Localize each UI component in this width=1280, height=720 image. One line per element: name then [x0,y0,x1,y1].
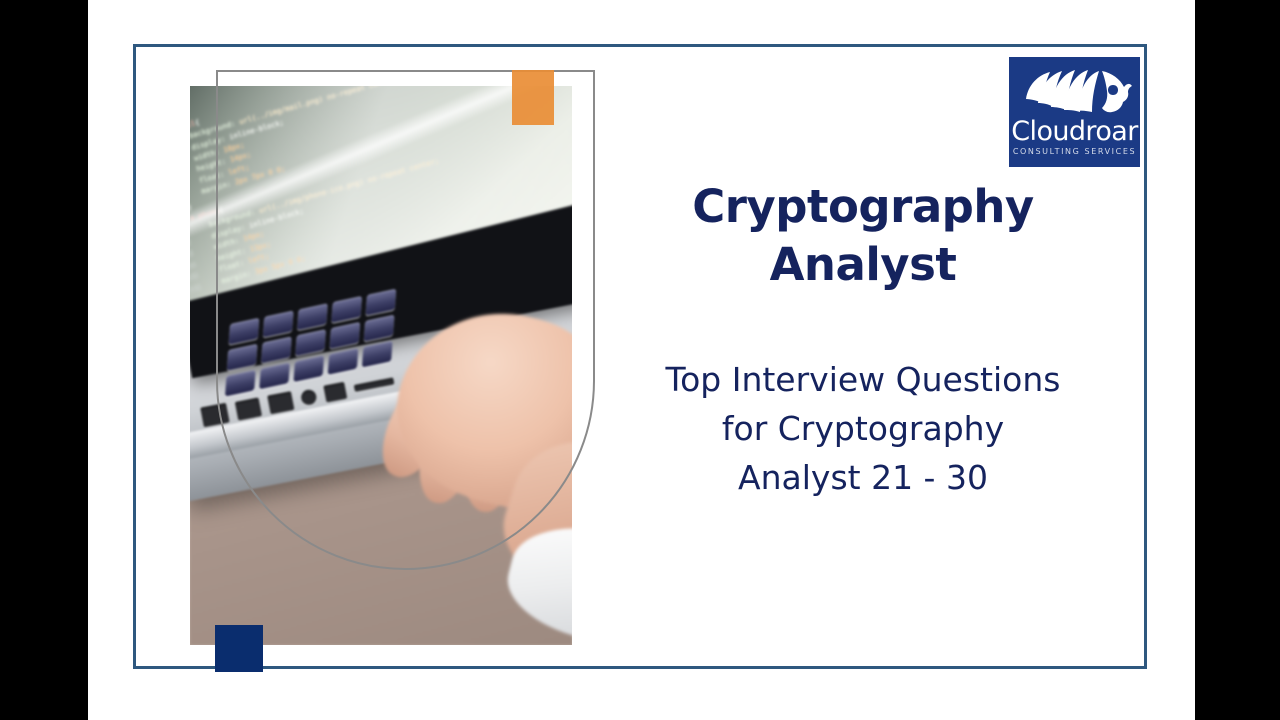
decorative-orange-square [512,70,554,125]
page-subtitle: Top Interview Questions for Cryptography… [573,355,1153,502]
title-line-1: Cryptography [692,180,1034,233]
letterbox-bar-right [1195,0,1280,720]
decorative-navy-square [215,625,263,672]
logo-wordmark: Cloudroar [1009,117,1140,147]
subtitle-line-1: Top Interview Questions [573,355,1153,404]
title-line-2: Analyst [770,238,957,291]
page-title: Cryptography Analyst [578,178,1148,294]
subtitle-line-2: for Cryptography [573,404,1153,453]
laptop-coding-photo: 130 } 131 132 a.mail{ 133 background: ur… [190,86,572,645]
logo-tagline: CONSULTING SERVICES [1009,147,1140,156]
cloudroar-logo: Cloudroar CONSULTING SERVICES [1009,57,1140,167]
slide-stage: 130 } 131 132 a.mail{ 133 background: ur… [0,0,1280,720]
letterbox-bar-left [0,0,88,720]
presentation-slide: 130 } 131 132 a.mail{ 133 background: ur… [88,0,1195,720]
subtitle-line-3: Analyst 21 - 30 [573,453,1153,502]
lion-mane-icon [1016,63,1134,119]
typing-hand [358,296,572,596]
